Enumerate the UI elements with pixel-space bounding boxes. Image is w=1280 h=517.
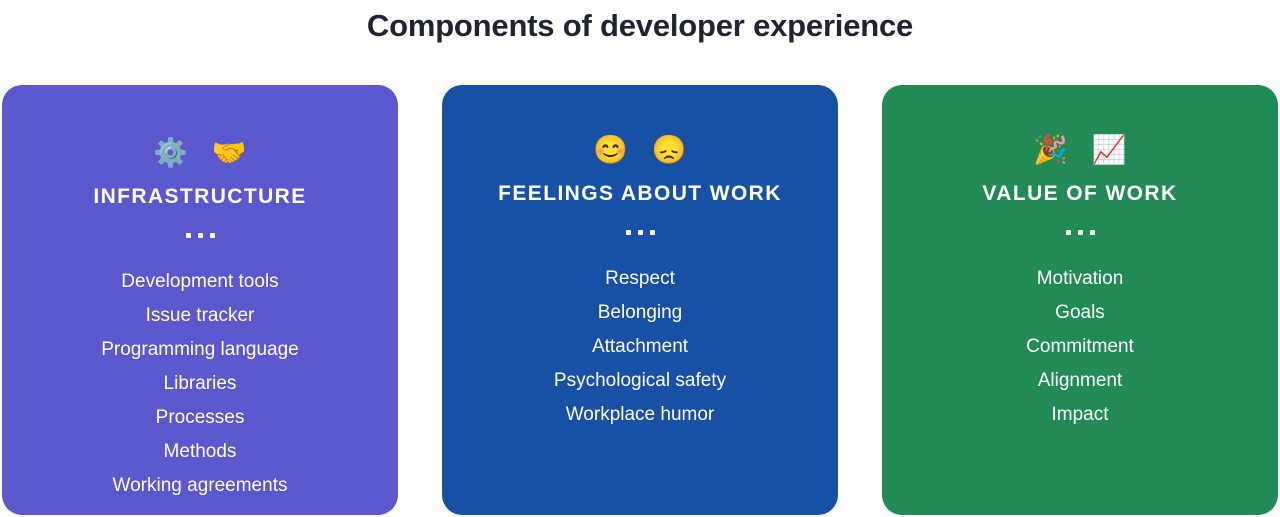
list-item: Workplace humor [566,398,715,432]
divider-dot [1066,230,1071,235]
card-list: Respect Belonging Attachment Psychologic… [554,262,726,432]
page-title: Components of developer experience [0,0,1280,52]
card-list: Development tools Issue tracker Programm… [101,265,299,503]
dot-divider [626,230,655,235]
card-row: ⚙️ 🤝 INFRASTRUCTURE Development tools Is… [2,85,1278,515]
divider-dot [210,233,215,238]
card-heading: INFRASTRUCTURE [93,185,306,209]
divider-dot [638,230,643,235]
diagram-canvas: Components of developer experience ⚙️ 🤝 … [0,0,1280,517]
card-heading: VALUE OF WORK [982,182,1177,206]
list-item: Methods [164,435,237,469]
divider-dot [198,233,203,238]
list-item: Attachment [592,330,688,364]
list-item: Goals [1055,296,1105,330]
divider-dot [1090,230,1095,235]
divider-dot [1078,230,1083,235]
card-emoji-group: ⚙️ 🤝 [145,139,255,167]
divider-dot [626,230,631,235]
dot-divider [186,233,215,238]
card-heading: FEELINGS ABOUT WORK [498,182,782,206]
card-value-of-work: 🎉 📈 VALUE OF WORK Motivation Goals Commi… [882,85,1278,515]
list-item: Respect [605,262,675,296]
list-item: Working agreements [113,469,288,503]
divider-dot [186,233,191,238]
list-item: Psychological safety [554,364,726,398]
list-item: Impact [1051,398,1108,432]
dot-divider [1066,230,1095,235]
list-item: Development tools [121,265,278,299]
list-item: Commitment [1026,330,1134,364]
card-infrastructure: ⚙️ 🤝 INFRASTRUCTURE Development tools Is… [2,85,398,515]
card-emoji-group: 😊 😞 [585,136,695,164]
list-item: Processes [156,401,245,435]
list-item: Libraries [164,367,237,401]
list-item: Alignment [1038,364,1123,398]
list-item: Programming language [101,333,299,367]
card-emoji-group: 🎉 📈 [1025,136,1135,164]
card-list: Motivation Goals Commitment Alignment Im… [1026,262,1134,432]
list-item: Issue tracker [146,299,255,333]
list-item: Motivation [1037,262,1124,296]
card-feelings-about-work: 😊 😞 FEELINGS ABOUT WORK Respect Belongin… [442,85,838,515]
list-item: Belonging [598,296,683,330]
divider-dot [650,230,655,235]
